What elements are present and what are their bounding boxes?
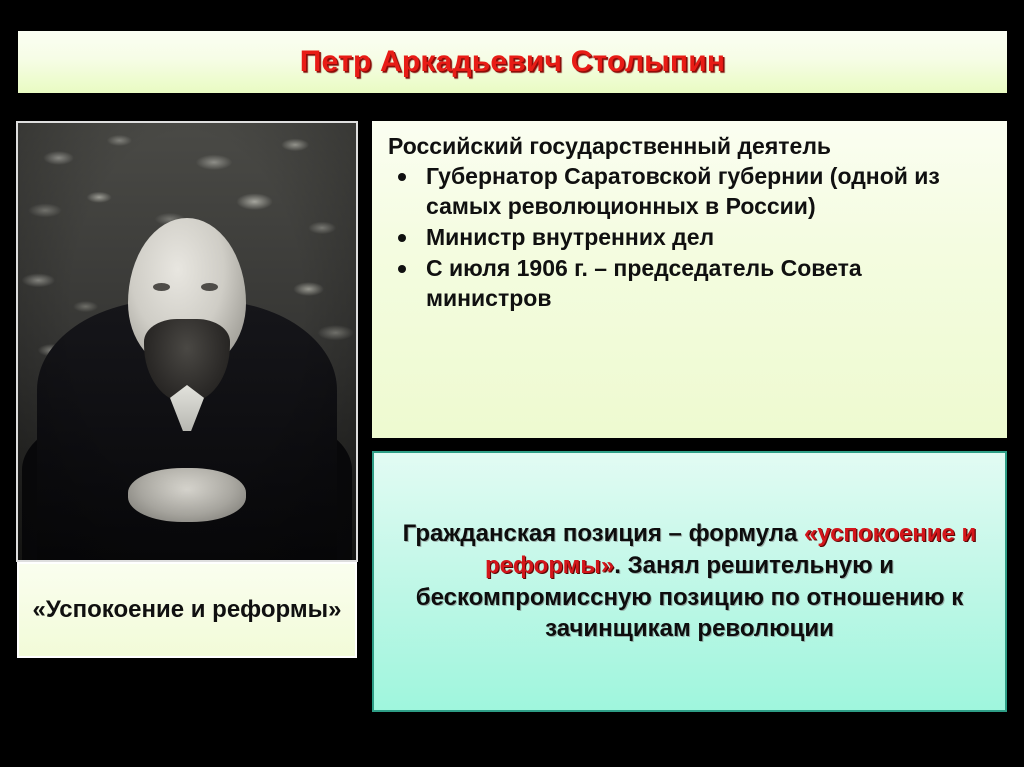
list-item-text: Министр внутренних дел	[426, 224, 714, 250]
photo-vignette-overlay	[18, 123, 356, 560]
portrait-photo	[18, 123, 356, 560]
portrait-photo-frame	[16, 121, 358, 562]
quote-panel: Гражданская позиция – формула «успокоени…	[372, 451, 1007, 712]
list-item-text: Губернатор Саратовской губернии (одной и…	[426, 163, 940, 219]
list-item: Министр внутренних дел	[386, 223, 993, 253]
list-item: С июля 1906 г. – председатель Совета мин…	[386, 254, 993, 314]
bullet-dot-icon	[398, 234, 406, 242]
portrait-caption-box: «Успокоение и реформы»	[17, 562, 357, 658]
slide-title-banner: Петр Аркадьевич Столыпин	[18, 31, 1007, 93]
page-title: Петр Аркадьевич Столыпин	[300, 45, 725, 79]
bullet-dot-icon	[398, 265, 406, 273]
bullet-dot-icon	[398, 173, 406, 181]
slide-canvas: Петр Аркадьевич Столыпин «Успокоение и р…	[0, 0, 1024, 767]
quote-panel-text: Гражданская позиция – формула «успокоени…	[390, 518, 989, 645]
quote-part-one: Гражданская позиция – формула	[403, 520, 804, 547]
info-panel-bullet-list: Губернатор Саратовской губернии (одной и…	[386, 162, 993, 313]
info-panel-lead-text: Российский государственный деятель	[388, 133, 993, 160]
list-item-text: С июля 1906 г. – председатель Совета мин…	[426, 255, 862, 311]
info-panel: Российский государственный деятель Губер…	[372, 121, 1007, 438]
portrait-caption-text: «Успокоение и реформы»	[23, 595, 352, 625]
list-item: Губернатор Саратовской губернии (одной и…	[386, 162, 993, 222]
